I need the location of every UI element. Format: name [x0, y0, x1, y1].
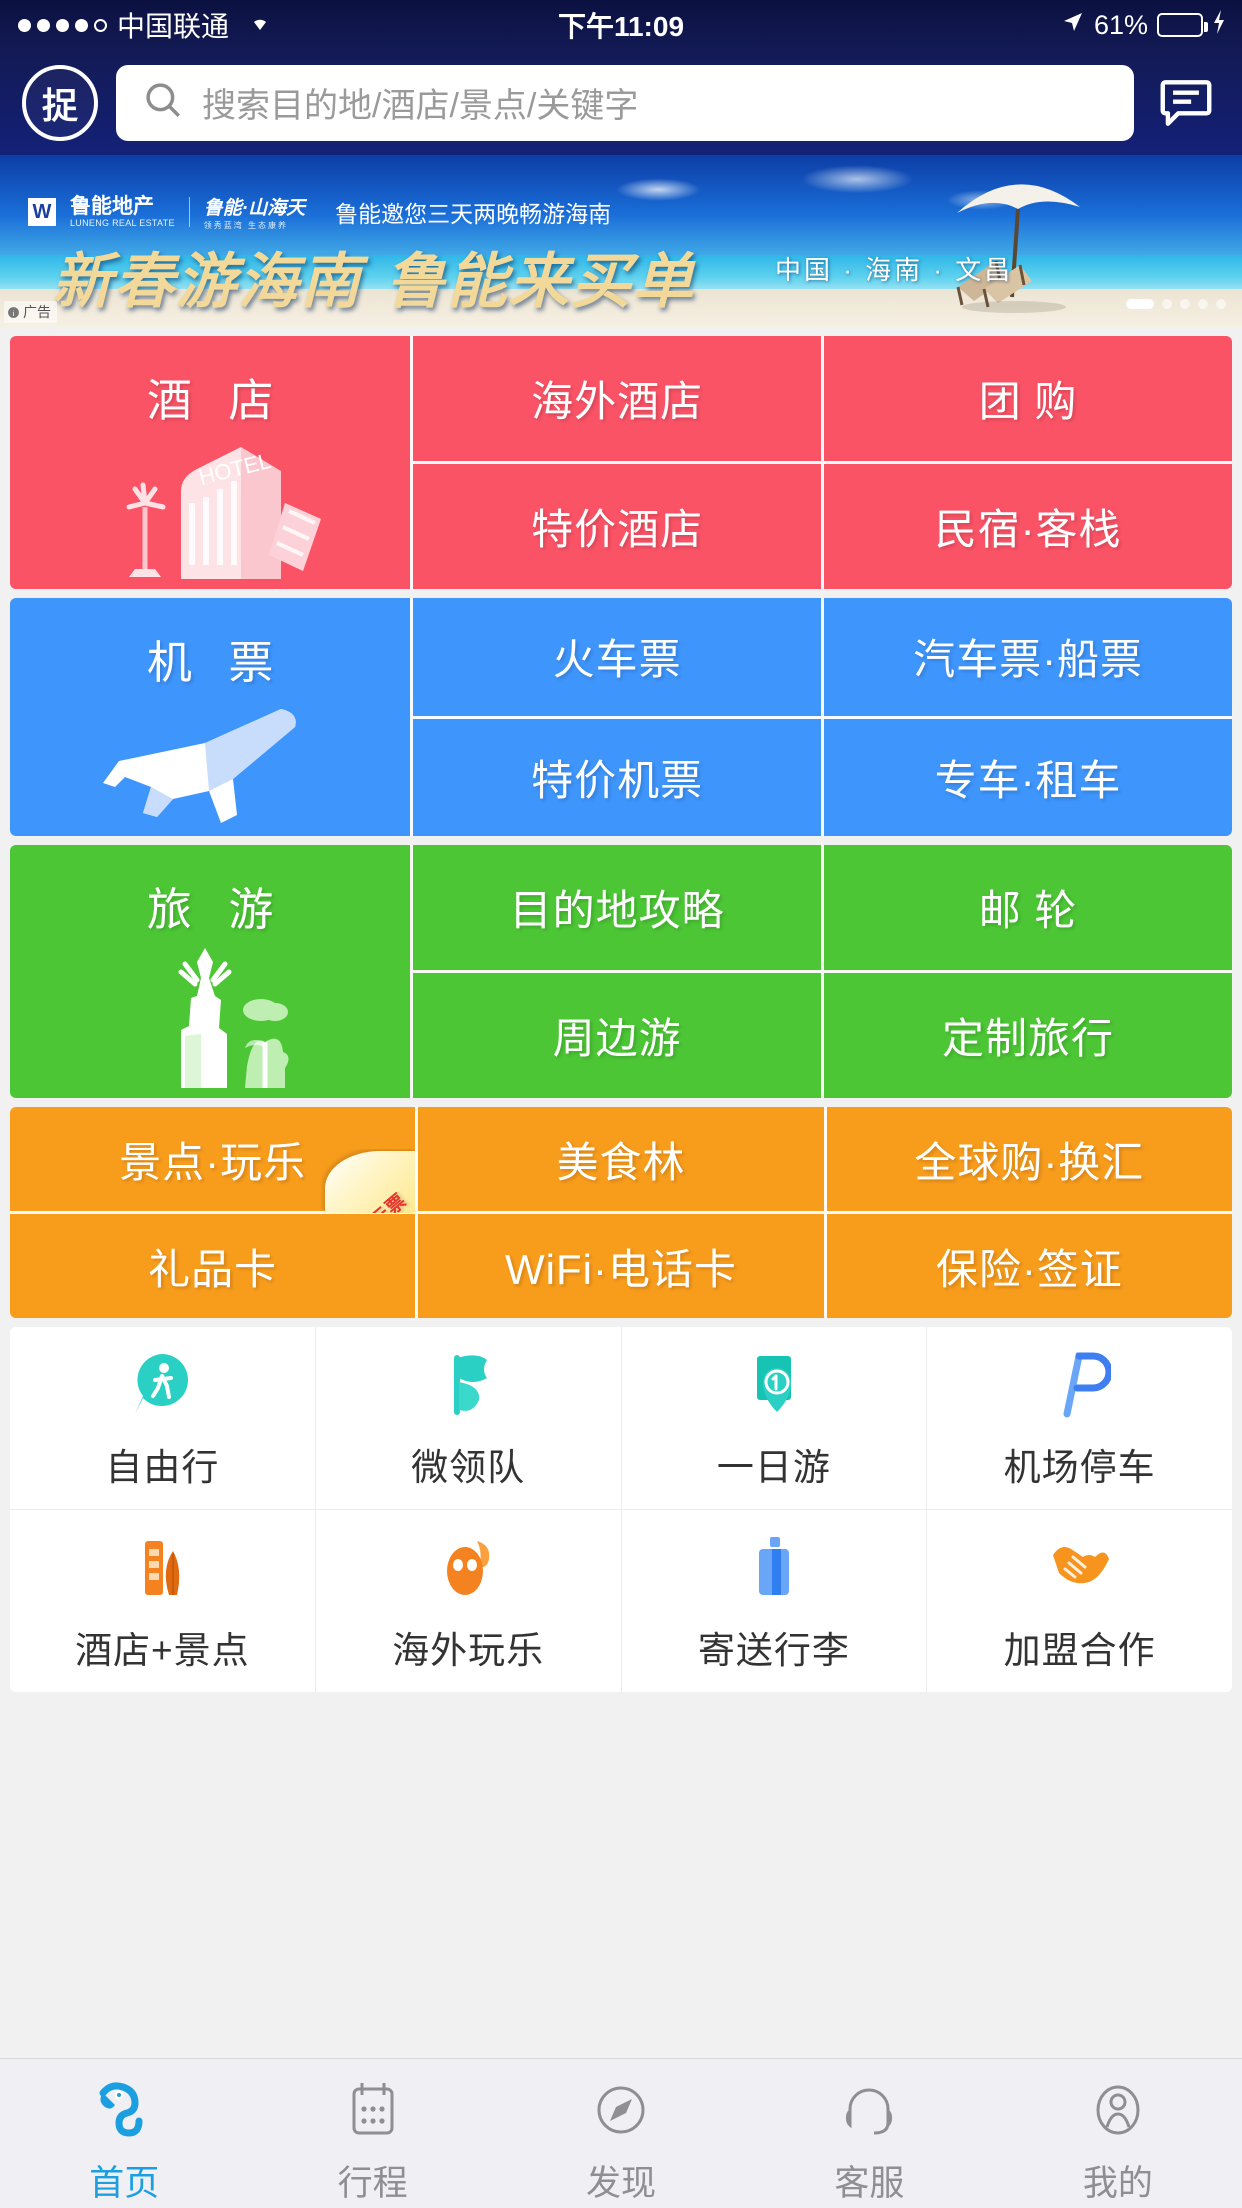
cell-cruise[interactable]: 邮 轮 [821, 845, 1232, 970]
brand-names: 鲁能地产 LUNENG REAL ESTATE [70, 196, 175, 228]
category-lifestyle-row-2: 礼品卡 WiFi·电话卡 保险·签证 [10, 1211, 1232, 1318]
person-icon [1085, 2075, 1151, 2145]
tab-customer-service[interactable]: 客服 [745, 2075, 993, 2206]
wifi-icon [245, 10, 275, 41]
service-wei-leader-label: 微领队 [411, 1437, 525, 1491]
category-lifestyle: 景点·玩乐 9元票 美食林 全球购·换汇 礼品卡 WiFi·电话卡 保险·签证 [10, 1107, 1232, 1318]
tab-home[interactable]: 首页 [0, 2075, 248, 2206]
cell-bus-boat-ticket[interactable]: 汽车票·船票 [821, 598, 1232, 716]
luneng-logo-icon: W [28, 198, 56, 226]
status-bar: 中国联通 下午11:09 61% [0, 0, 1242, 50]
tab-customer-service-label: 客服 [834, 2155, 904, 2206]
category-travel-main[interactable]: 旅 游 [10, 845, 413, 1098]
bottom-tab-bar: 首页 行程 发现 [0, 2058, 1242, 2208]
beach-umbrella-icon [922, 165, 1097, 320]
category-flight: 机 票 火车票 汽车票·船票 特价机票 专车·租车 [10, 598, 1232, 836]
category-flight-title: 机 票 [135, 626, 286, 691]
tab-mine[interactable]: 我的 [994, 2075, 1242, 2206]
banner-dot[interactable] [1180, 299, 1190, 309]
cell-global-shopping-exchange[interactable]: 全球购·换汇 [824, 1107, 1232, 1211]
tab-discover-label: 发现 [586, 2155, 656, 2206]
service-free-travel[interactable]: 自由行 [10, 1327, 315, 1509]
cell-discount-flight[interactable]: 特价机票 [413, 719, 821, 837]
category-travel-row-1: 目的地攻略 邮 轮 [413, 845, 1232, 970]
statue-of-liberty-icon [10, 938, 410, 1098]
service-free-travel-label: 自由行 [105, 1437, 219, 1491]
cell-car-rental[interactable]: 专车·租车 [821, 719, 1232, 837]
cell-food-guide[interactable]: 美食林 [415, 1107, 823, 1211]
app-logo[interactable]: 捉 [22, 65, 98, 141]
status-right: 61% [1061, 10, 1242, 41]
tab-itinerary-label: 行程 [338, 2155, 408, 2206]
service-icon-row-2: 酒店+景点 海外玩乐 寄送行李 [10, 1509, 1232, 1692]
cell-attractions-fun-label: 景点·玩乐 [119, 1129, 306, 1190]
svg-text:i: i [13, 308, 15, 317]
banner-dot[interactable] [1216, 299, 1226, 309]
search-input[interactable]: 搜索目的地/酒店/景点/关键字 [116, 65, 1134, 141]
category-flight-row-2: 特价机票 专车·租车 [413, 716, 1232, 837]
banner-small-slogan: 鲁能邀您三天两晚畅游海南 [335, 195, 611, 229]
service-franchise[interactable]: 加盟合作 [926, 1510, 1232, 1692]
banner-pagination[interactable] [1126, 299, 1226, 309]
app-header: 捉 搜索目的地/酒店/景点/关键字 [0, 50, 1242, 155]
category-flight-main[interactable]: 机 票 [10, 598, 413, 836]
category-hotel-main[interactable]: 酒 店 HOTEL [10, 336, 413, 589]
category-travel-cells: 目的地攻略 邮 轮 周边游 定制旅行 [413, 845, 1232, 1098]
service-airport-parking-label: 机场停车 [1004, 1437, 1156, 1491]
location-arrow-icon [1061, 10, 1085, 41]
brand-sub-name: 鲁能·山海天 领秀蓝湾 生态康养 [204, 193, 305, 231]
cell-homestay-inn[interactable]: 民宿·客栈 [821, 464, 1232, 589]
chat-bubble-icon[interactable] [1152, 69, 1220, 137]
handshake-icon [1049, 1532, 1111, 1604]
luggage-icon [743, 1532, 805, 1604]
tab-itinerary[interactable]: 行程 [248, 2075, 496, 2206]
hotel-building-icon: HOTEL [10, 429, 410, 589]
service-luggage-delivery[interactable]: 寄送行李 [621, 1510, 927, 1692]
promo-ribbon-text: 9元票 [354, 1186, 411, 1213]
ad-info-icon: i [7, 306, 20, 319]
service-wei-leader[interactable]: 微领队 [315, 1327, 621, 1509]
service-hotel-plus-attraction[interactable]: 酒店+景点 [10, 1510, 315, 1692]
category-travel-title: 旅 游 [135, 873, 286, 938]
service-luggage-delivery-label: 寄送行李 [698, 1620, 850, 1674]
ad-label: i 广告 [4, 301, 57, 323]
brand-sub-tagline: 领秀蓝湾 生态康养 [204, 220, 305, 231]
category-travel: 旅 游 目的地攻略 邮 轮 周边游 [10, 845, 1232, 1098]
brand-divider [189, 197, 190, 227]
airplane-icon [10, 691, 410, 836]
calendar-icon [340, 2075, 406, 2145]
battery-percent: 61% [1094, 10, 1148, 41]
cell-custom-travel[interactable]: 定制旅行 [821, 973, 1232, 1098]
category-grid: 酒 店 HOTEL 海外 [0, 327, 1242, 1318]
cell-attractions-fun[interactable]: 景点·玩乐 9元票 [10, 1107, 415, 1211]
chameleon-home-icon [91, 2075, 157, 2145]
brand-name-en: LUNENG REAL ESTATE [70, 218, 175, 228]
brand-name-cn: 鲁能地产 [70, 196, 175, 218]
category-flight-row-1: 火车票 汽车票·船票 [413, 598, 1232, 716]
category-hotel-row-1: 海外酒店 团 购 [413, 336, 1232, 461]
parking-p-icon [1049, 1349, 1111, 1421]
service-day-tour[interactable]: 一日游 [621, 1327, 927, 1509]
cell-wifi-sim-card[interactable]: WiFi·电话卡 [415, 1214, 823, 1318]
tab-mine-label: 我的 [1083, 2155, 1153, 2206]
service-overseas-fun-label: 海外玩乐 [392, 1620, 544, 1674]
category-hotel-row-2: 特价酒店 民宿·客栈 [413, 461, 1232, 589]
cell-discount-hotel[interactable]: 特价酒店 [413, 464, 821, 589]
service-airport-parking[interactable]: 机场停车 [926, 1327, 1232, 1509]
tab-home-label: 首页 [89, 2155, 159, 2206]
banner-dot-active[interactable] [1126, 299, 1154, 309]
cell-group-buy[interactable]: 团 购 [821, 336, 1232, 461]
category-hotel-title: 酒 店 [135, 364, 286, 429]
cell-train-ticket[interactable]: 火车票 [413, 598, 821, 716]
banner-brand-row: W 鲁能地产 LUNENG REAL ESTATE 鲁能·山海天 领秀蓝湾 生态… [28, 193, 611, 231]
service-icon-grid: 自由行 微领队 一日游 [10, 1327, 1232, 1692]
cell-destination-guide[interactable]: 目的地攻略 [413, 845, 821, 970]
cell-overseas-hotel[interactable]: 海外酒店 [413, 336, 821, 461]
ad-label-text: 广告 [23, 302, 51, 322]
banner-location: 中国 · 海南 · 文昌 [775, 250, 1013, 287]
category-travel-row-2: 周边游 定制旅行 [413, 970, 1232, 1098]
overseas-fun-mask-icon [437, 1532, 499, 1604]
service-hotel-plus-attraction-label: 酒店+景点 [75, 1620, 250, 1674]
tab-discover[interactable]: 发现 [497, 2075, 745, 2206]
compass-icon [588, 2075, 654, 2145]
walking-person-pin-icon [131, 1349, 193, 1421]
status-left: 中国联通 [0, 5, 275, 45]
search-placeholder: 搜索目的地/酒店/景点/关键字 [202, 78, 638, 127]
signal-strength-icon [18, 19, 107, 32]
cell-gift-card[interactable]: 礼品卡 [10, 1214, 415, 1318]
service-franchise-label: 加盟合作 [1004, 1620, 1156, 1674]
cell-nearby-tour[interactable]: 周边游 [413, 973, 821, 1098]
category-hotel-cells: 海外酒店 团 购 特价酒店 民宿·客栈 [413, 336, 1232, 589]
cell-insurance-visa[interactable]: 保险·签证 [824, 1214, 1232, 1318]
battery-icon [1157, 13, 1203, 37]
lightning-bolt-icon [1212, 10, 1226, 41]
hotel-plus-attraction-icon [131, 1532, 193, 1604]
search-icon [142, 79, 184, 126]
day-tour-pin-icon [743, 1349, 805, 1421]
banner-dot[interactable] [1198, 299, 1208, 309]
category-flight-cells: 火车票 汽车票·船票 特价机票 专车·租车 [413, 598, 1232, 836]
flag-leader-icon [437, 1349, 499, 1421]
banner-headline: 新春游海南 鲁能来买单 [52, 233, 695, 320]
promo-ribbon: 9元票 [321, 1149, 417, 1213]
service-overseas-fun[interactable]: 海外玩乐 [315, 1510, 621, 1692]
carrier-name: 中国联通 [117, 5, 229, 45]
brand-sub-text: 鲁能·山海天 [204, 198, 305, 219]
category-hotel: 酒 店 HOTEL 海外 [10, 336, 1232, 589]
banner-dot[interactable] [1162, 299, 1172, 309]
headset-icon [836, 2075, 902, 2145]
service-icon-row-1: 自由行 微领队 一日游 [10, 1327, 1232, 1509]
category-lifestyle-row-1: 景点·玩乐 9元票 美食林 全球购·换汇 [10, 1107, 1232, 1211]
service-day-tour-label: 一日游 [717, 1437, 831, 1491]
promo-banner[interactable]: W 鲁能地产 LUNENG REAL ESTATE 鲁能·山海天 领秀蓝湾 生态… [0, 155, 1242, 327]
